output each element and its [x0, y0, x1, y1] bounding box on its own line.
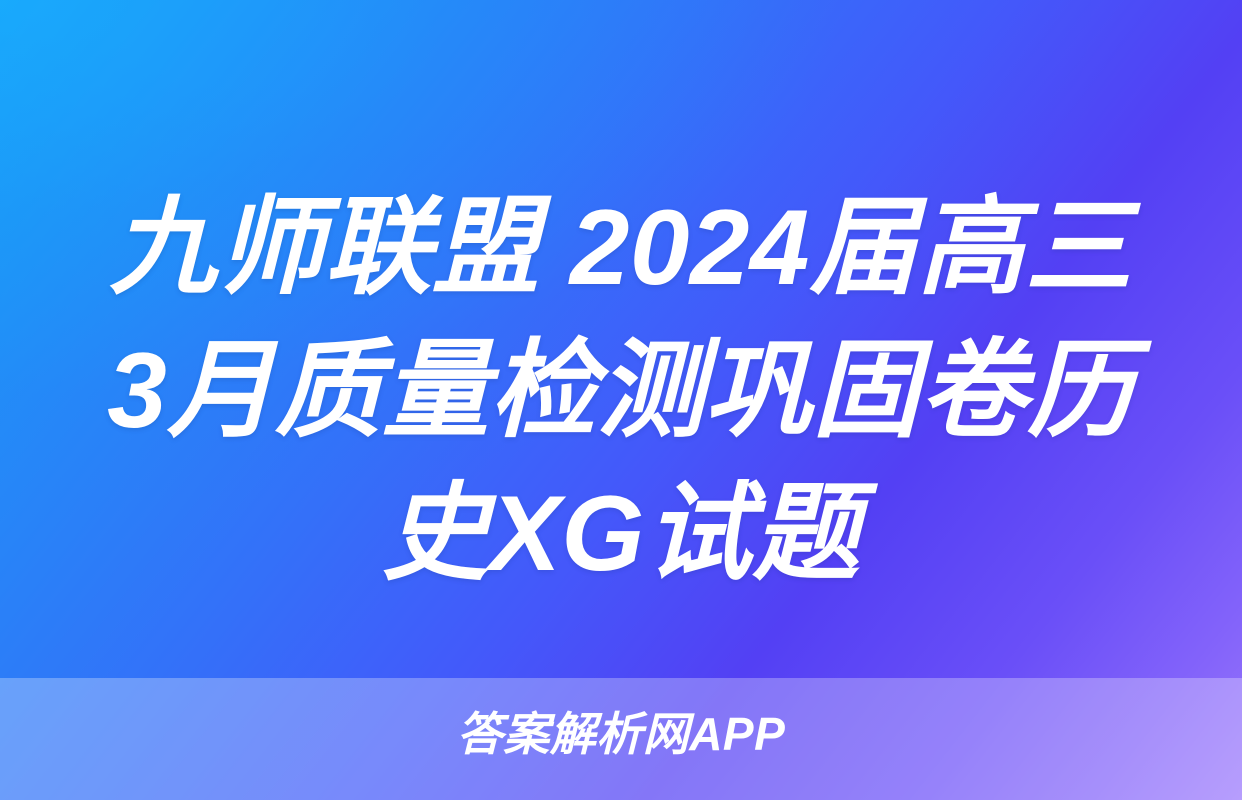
title-block: 九师联盟 2024届高三3月质量检测巩固卷历史XG试题	[0, 176, 1242, 605]
app-watermark: 答案解析网APP	[0, 706, 1242, 762]
page-title: 九师联盟 2024届高三3月质量检测巩固卷历史XG试题	[92, 176, 1150, 605]
exam-cover-card: 九师联盟 2024届高三3月质量检测巩固卷历史XG试题 答案解析网APP	[0, 0, 1242, 800]
